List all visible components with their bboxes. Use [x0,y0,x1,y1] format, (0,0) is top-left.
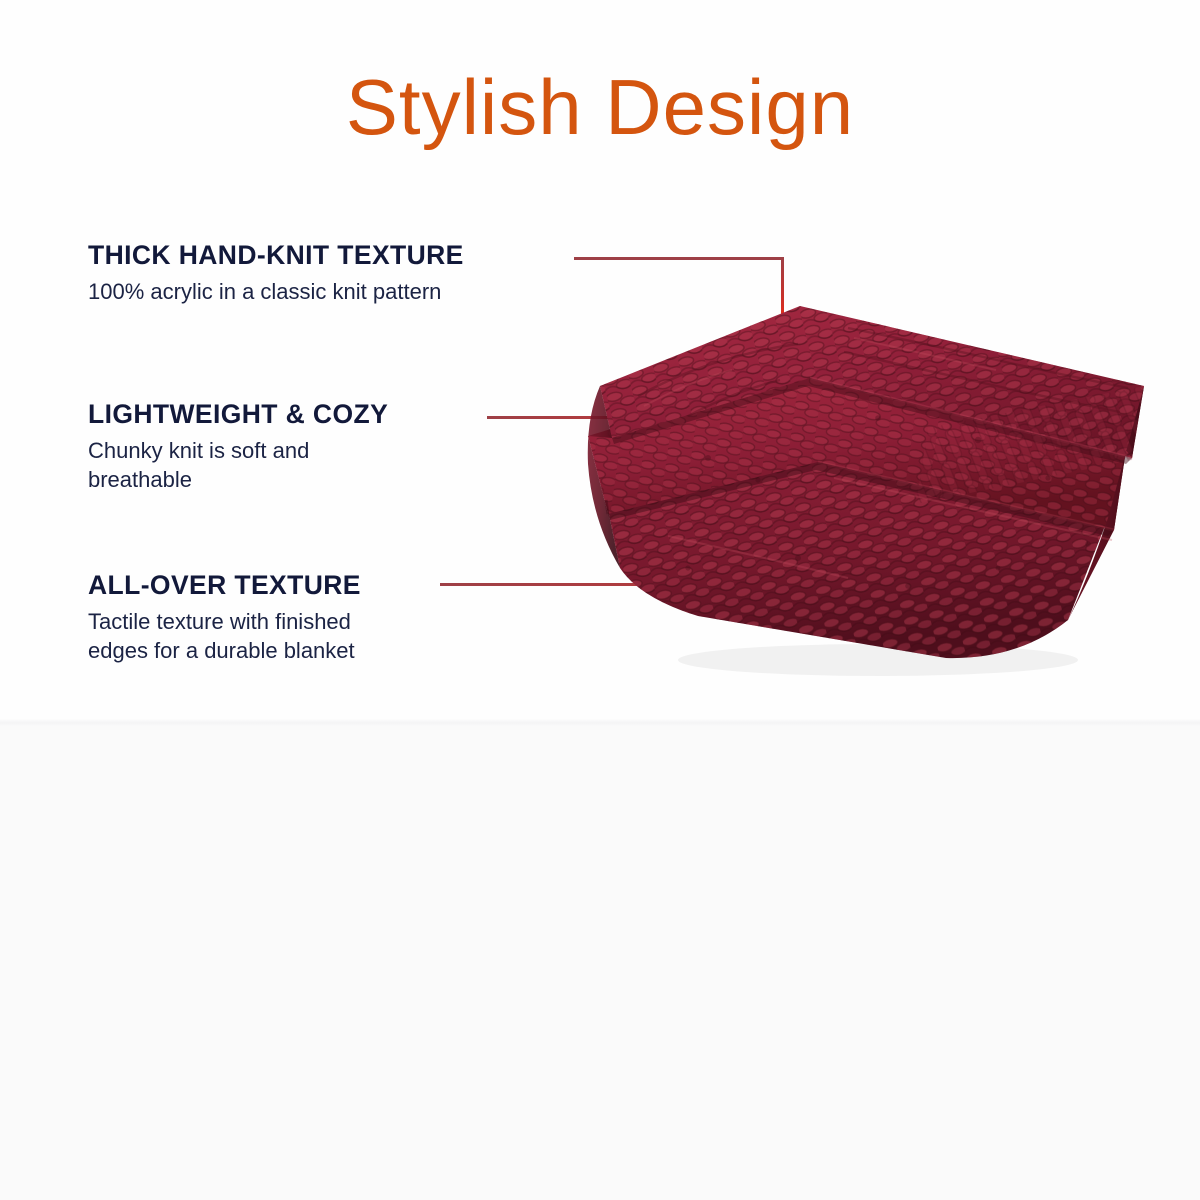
section-divider [0,718,1200,726]
feature-subtext: 100% acrylic in a classic knit pattern [88,277,464,306]
features-section: Stylish Design THICK HAND-KNIT TEXTURE 1… [0,0,1200,722]
product-image-folded-knit-blanket [548,268,1168,680]
callout-leader-line-1 [574,257,783,260]
infographic-page: Stylish Design THICK HAND-KNIT TEXTURE 1… [0,0,1200,1200]
size-section: 60"x50" Full Bed 54"x75" THROW BLANKET S… [0,726,1200,1200]
feature-block-lightweight-cozy: LIGHTWEIGHT & COZY Chunky knit is soft a… [88,400,388,494]
feature-subtext: Tactile texture with finished edges for … [88,607,361,665]
feature-block-thick-hand-knit-texture: THICK HAND-KNIT TEXTURE 100% acrylic in … [88,241,464,306]
page-title: Stylish Design [0,62,1200,153]
feature-subtext: Chunky knit is soft and breathable [88,436,388,494]
feature-heading: LIGHTWEIGHT & COZY [88,400,388,429]
feature-heading: THICK HAND-KNIT TEXTURE [88,241,464,270]
feature-block-all-over-texture: ALL-OVER TEXTURE Tactile texture with fi… [88,571,361,665]
feature-heading: ALL-OVER TEXTURE [88,571,361,600]
